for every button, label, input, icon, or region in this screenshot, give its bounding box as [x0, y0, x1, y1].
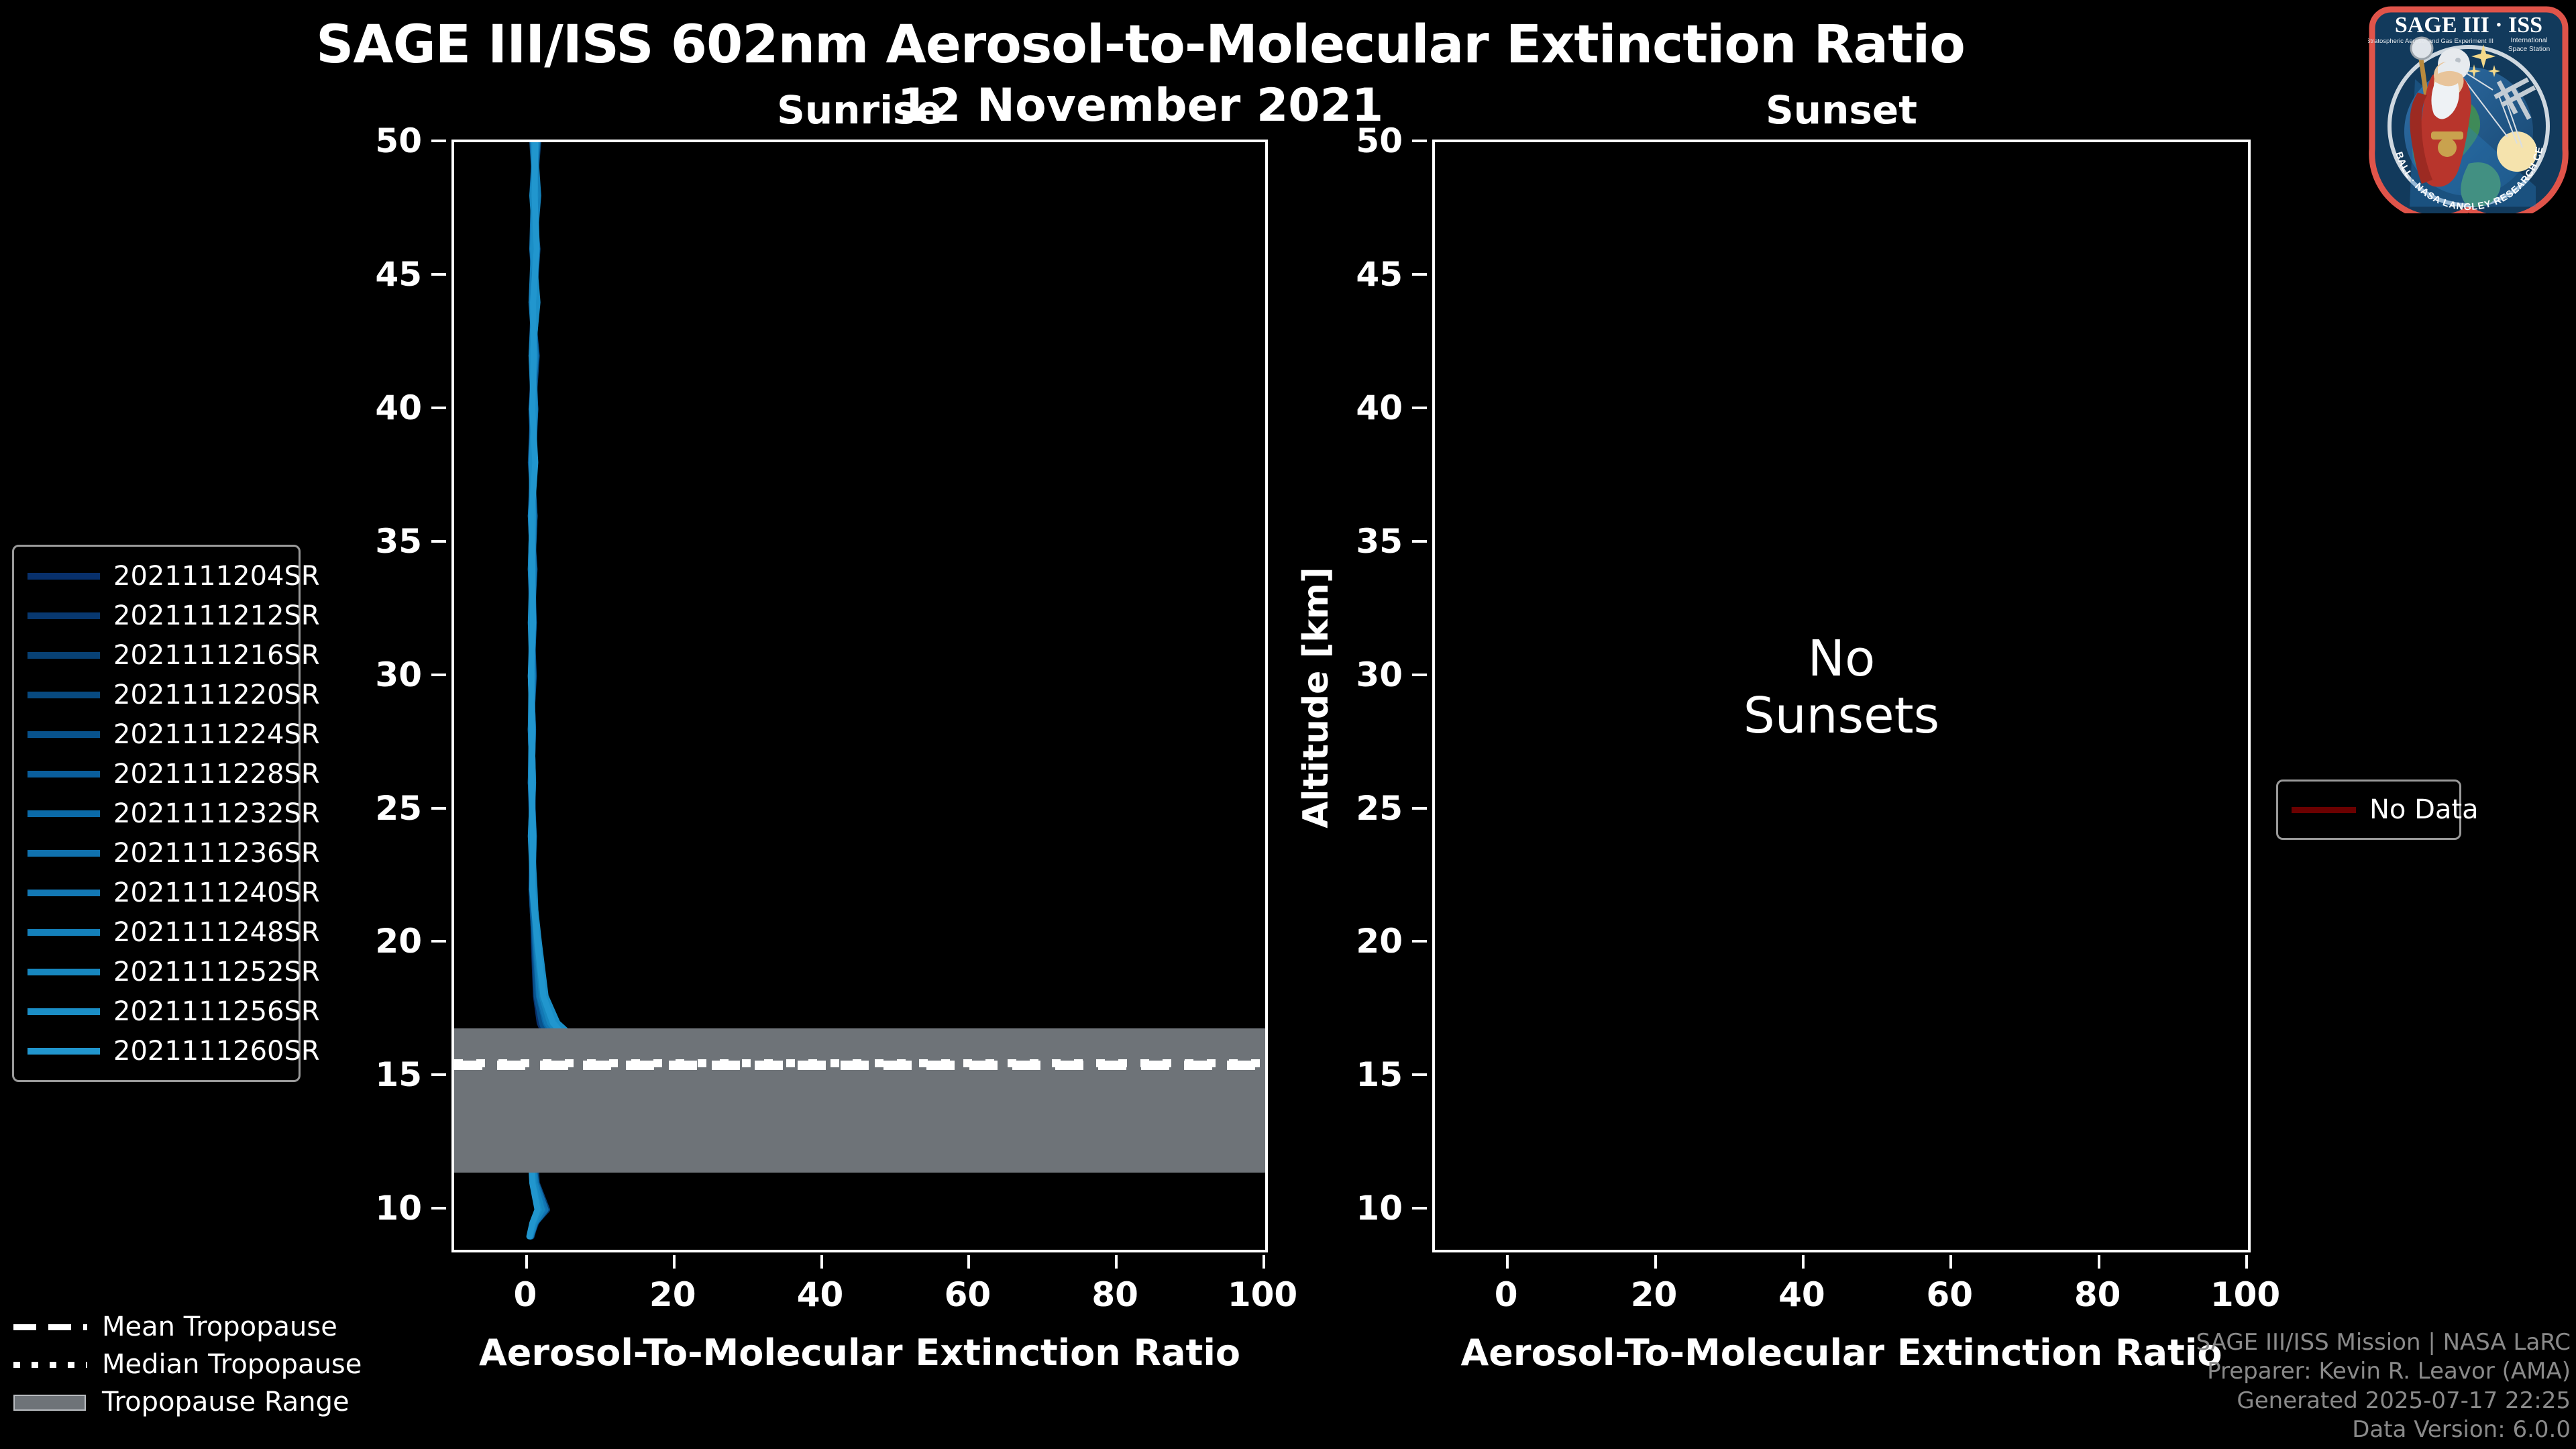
- y-tick-mark: [1412, 940, 1427, 943]
- tropopause-key: Mean TropopauseMedian TropopauseTropopau…: [13, 1308, 416, 1421]
- panel-title-sunset: Sunset: [1432, 87, 2251, 133]
- y-tick-label: 40: [1356, 388, 1403, 427]
- svg-text:International: International: [2510, 37, 2547, 44]
- x-tick-mark: [1506, 1255, 1509, 1269]
- legend-line-swatch: [28, 612, 100, 619]
- x-tick-label: 0: [1495, 1275, 1518, 1314]
- no-sunsets-line-2: Sunsets: [1432, 688, 2251, 745]
- legend-line-swatch: [28, 890, 100, 896]
- legend-line-swatch: [28, 810, 100, 817]
- y-tick-mark: [1412, 807, 1427, 810]
- legend-item-2021111248sr[interactable]: 2021111248SR: [28, 912, 285, 952]
- legend-item-2021111228sr[interactable]: 2021111228SR: [28, 754, 285, 794]
- y-tick-label: 20: [375, 922, 422, 961]
- no-data-legend[interactable]: No Data: [2276, 780, 2461, 840]
- sunset-y-axis-ticks: 101520253035404550: [1346, 140, 1427, 1252]
- key-label: Mean Tropopause: [102, 1311, 337, 1342]
- no-data-line-swatch: [2292, 807, 2356, 813]
- footer-version: Data Version: 6.0.0: [2196, 1415, 2571, 1445]
- sunrise-plot-frame: [451, 140, 1268, 1252]
- logo-title: SAGE III · ISS: [2395, 13, 2542, 38]
- dashed-swatch: [13, 1317, 87, 1337]
- y-tick-label: 25: [375, 789, 422, 828]
- footer-credits: SAGE III/ISS Mission | NASA LaRC Prepare…: [2196, 1328, 2571, 1445]
- legend-line-swatch: [28, 652, 100, 659]
- x-tick-label: 80: [2074, 1275, 2121, 1314]
- y-tick-label: 45: [1356, 255, 1403, 294]
- legend-item-no-data[interactable]: No Data: [2292, 791, 2446, 828]
- legend-item-2021111220sr[interactable]: 2021111220SR: [28, 675, 285, 714]
- legend-line-swatch: [28, 573, 100, 580]
- band-swatch: [13, 1392, 87, 1412]
- legend-label: 2021111236SR: [113, 838, 320, 869]
- footer-preparer: Preparer: Kevin R. Leavor (AMA): [2196, 1357, 2571, 1387]
- y-tick-label: 25: [1356, 789, 1403, 828]
- x-tick-mark: [673, 1255, 676, 1269]
- tropopause-range-band: [454, 1028, 1265, 1173]
- y-tick-mark: [1412, 1073, 1427, 1076]
- x-tick-label: 60: [945, 1275, 991, 1314]
- x-tick-mark: [820, 1255, 823, 1269]
- legend-line-swatch: [28, 692, 100, 698]
- y-tick-mark: [431, 1073, 446, 1076]
- legend-line-swatch: [28, 1008, 100, 1015]
- legend-item-2021111216sr[interactable]: 2021111216SR: [28, 635, 285, 675]
- legend-item-2021111232sr[interactable]: 2021111232SR: [28, 794, 285, 833]
- legend-item-2021111252sr[interactable]: 2021111252SR: [28, 952, 285, 991]
- legend-label: 2021111220SR: [113, 680, 320, 710]
- y-tick-label: 45: [375, 255, 422, 294]
- y-tick-mark: [431, 807, 446, 810]
- x-tick-label: 100: [1228, 1275, 1297, 1314]
- y-tick-mark: [1412, 407, 1427, 409]
- x-tick-mark: [1802, 1255, 1805, 1269]
- legend-label: 2021111252SR: [113, 957, 320, 987]
- legend-label: 2021111204SR: [113, 561, 320, 592]
- x-tick-mark: [967, 1255, 970, 1269]
- key-item-dashed: Mean Tropopause: [13, 1308, 416, 1346]
- legend-line-swatch: [28, 731, 100, 738]
- key-label: Tropopause Range: [102, 1387, 350, 1417]
- x-tick-mark: [2245, 1255, 2248, 1269]
- x-tick-mark: [2098, 1255, 2100, 1269]
- legend-label: 2021111216SR: [113, 640, 320, 671]
- legend-line-swatch: [28, 969, 100, 975]
- y-tick-mark: [431, 140, 446, 142]
- legend-line-swatch: [28, 929, 100, 936]
- key-label: Median Tropopause: [102, 1349, 362, 1380]
- legend-label: 2021111224SR: [113, 719, 320, 750]
- footer-mission: SAGE III/ISS Mission | NASA LaRC: [2196, 1328, 2571, 1358]
- x-tick-label: 20: [1631, 1275, 1678, 1314]
- legend-label: 2021111232SR: [113, 798, 320, 829]
- y-tick-label: 35: [375, 522, 422, 561]
- y-tick-mark: [431, 674, 446, 676]
- y-tick-label: 50: [375, 121, 422, 160]
- footer-generated: Generated 2025-07-17 22:25: [2196, 1387, 2571, 1416]
- sunset-x-axis-ticks: 020406080100: [1432, 1255, 2251, 1336]
- y-tick-mark: [431, 407, 446, 409]
- legend-item-2021111224sr[interactable]: 2021111224SR: [28, 714, 285, 754]
- svg-text:Space Station: Space Station: [2508, 46, 2550, 53]
- x-tick-mark: [1949, 1255, 1952, 1269]
- legend-label: 2021111248SR: [113, 917, 320, 948]
- y-tick-mark: [1412, 540, 1427, 543]
- y-tick-mark: [1412, 674, 1427, 676]
- y-tick-label: 10: [375, 1189, 422, 1228]
- legend-item-2021111212sr[interactable]: 2021111212SR: [28, 596, 285, 635]
- dotted-swatch: [13, 1354, 87, 1375]
- logo-subtitle-left: Stratospheric Aerosol and Gas Experiment…: [2368, 38, 2493, 45]
- legend-line-swatch: [28, 1048, 100, 1055]
- y-tick-label: 30: [375, 655, 422, 694]
- y-tick-label: 40: [375, 388, 422, 427]
- legend-item-2021111240sr[interactable]: 2021111240SR: [28, 873, 285, 912]
- mean-tropopause-line: [454, 1061, 1265, 1070]
- legend-label: 2021111228SR: [113, 759, 320, 790]
- legend-item-2021111236sr[interactable]: 2021111236SR: [28, 833, 285, 873]
- no-data-label: No Data: [2369, 794, 2479, 825]
- y-tick-label: 15: [1356, 1055, 1403, 1094]
- x-tick-mark: [1115, 1255, 1118, 1269]
- y-tick-label: 30: [1356, 655, 1403, 694]
- y-tick-mark: [431, 273, 446, 276]
- legend-item-2021111256sr[interactable]: 2021111256SR: [28, 991, 285, 1031]
- sage-iii-iss-mission-logo: BALL · NASA LANGLEY RESEARCH CENTER · TA…: [2368, 5, 2569, 213]
- y-tick-label: 20: [1356, 922, 1403, 961]
- legend-item-2021111260sr[interactable]: 2021111260SR: [28, 1031, 285, 1071]
- x-tick-mark: [1263, 1255, 1265, 1269]
- y-tick-mark: [1412, 140, 1427, 142]
- y-tick-mark: [431, 540, 446, 543]
- key-item-band: Tropopause Range: [13, 1383, 416, 1421]
- x-tick-label: 40: [797, 1275, 844, 1314]
- no-sunsets-annotation: No Sunsets: [1432, 631, 2251, 745]
- panel-title-sunrise: Sunrise: [451, 87, 1268, 133]
- legend-label: 2021111260SR: [113, 1036, 320, 1067]
- legend-line-swatch: [28, 850, 100, 857]
- x-tick-label: 60: [1926, 1275, 1973, 1314]
- sunset-y-axis-label: Altitude [km]: [1296, 510, 1336, 885]
- legend-label: 2021111256SR: [113, 996, 320, 1027]
- page-title: SAGE III/ISS 602nm Aerosol-to-Molecular …: [0, 15, 2281, 75]
- x-tick-label: 20: [649, 1275, 696, 1314]
- legend-label: 2021111240SR: [113, 877, 320, 908]
- x-tick-label: 40: [1778, 1275, 1825, 1314]
- legend-item-2021111204sr[interactable]: 2021111204SR: [28, 556, 285, 596]
- y-tick-label: 35: [1356, 522, 1403, 561]
- y-tick-mark: [431, 940, 446, 943]
- x-tick-mark: [525, 1255, 528, 1269]
- y-tick-label: 15: [375, 1055, 422, 1094]
- y-tick-mark: [1412, 1207, 1427, 1210]
- sunrise-x-axis-ticks: 020406080100: [451, 1255, 1268, 1336]
- y-tick-label: 10: [1356, 1189, 1403, 1228]
- key-item-dotted: Median Tropopause: [13, 1346, 416, 1383]
- y-tick-label: 50: [1356, 121, 1403, 160]
- x-tick-mark: [1654, 1255, 1657, 1269]
- legend-line-swatch: [28, 771, 100, 777]
- no-sunsets-line-1: No: [1432, 631, 2251, 688]
- x-tick-label: 100: [2210, 1275, 2280, 1314]
- sunrise-y-axis-ticks: 101520253035404550: [366, 140, 446, 1252]
- x-tick-label: 80: [1091, 1275, 1138, 1314]
- legend-label: 2021111212SR: [113, 600, 320, 631]
- sunrise-x-axis-label: Aerosol-To-Molecular Extinction Ratio: [451, 1332, 1268, 1374]
- y-tick-mark: [1412, 273, 1427, 276]
- x-tick-label: 0: [514, 1275, 537, 1314]
- sunset-x-axis-label: Aerosol-To-Molecular Extinction Ratio: [1432, 1332, 2251, 1374]
- y-tick-mark: [431, 1207, 446, 1210]
- series-legend[interactable]: 2021111204SR2021111212SR2021111216SR2021…: [12, 545, 301, 1082]
